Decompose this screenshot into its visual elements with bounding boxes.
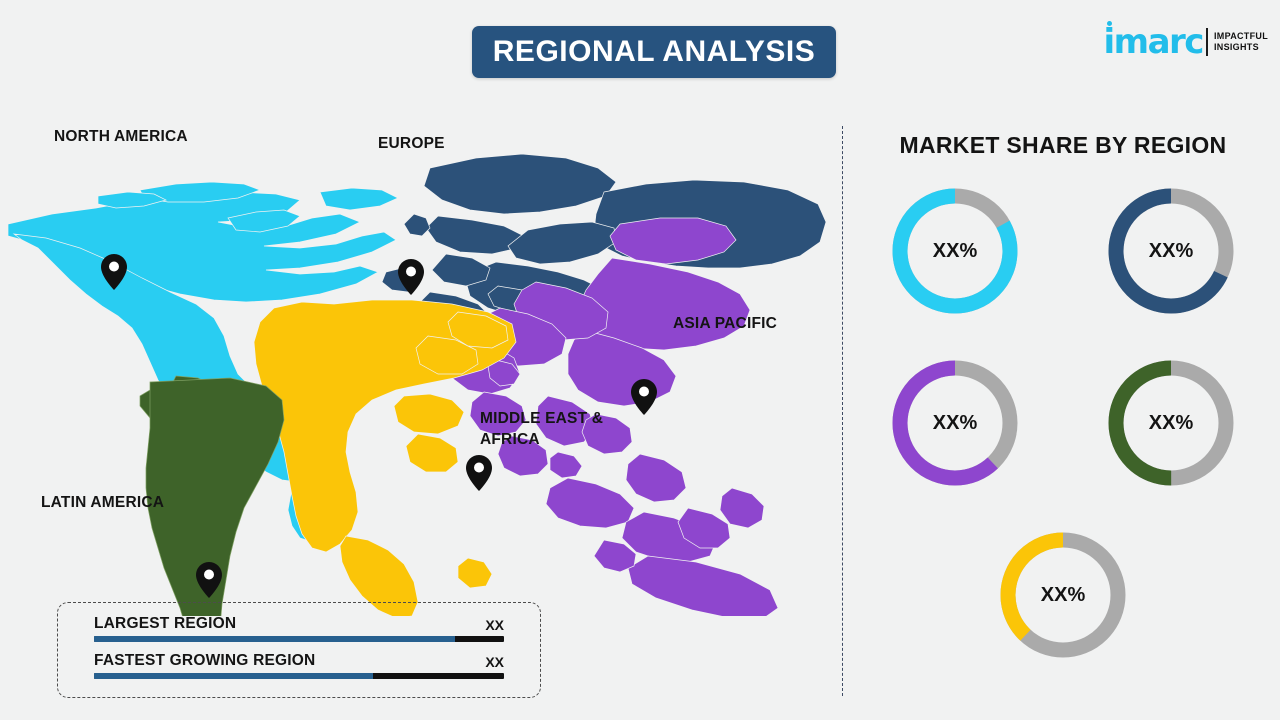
donut-row-2: XX% XX% [846, 353, 1280, 493]
donut-row-3: XX% [846, 525, 1280, 665]
map-pin-middle-east-africa-icon[interactable] [466, 455, 492, 491]
donut-chart-north-america[interactable]: XX% [885, 181, 1025, 321]
legend-row-head: LARGEST REGION XX [94, 615, 504, 633]
map-pin-europe-icon[interactable] [398, 259, 424, 295]
donut-value-europe: XX% [1101, 181, 1241, 321]
page-title-banner: REGIONAL ANALYSIS [472, 26, 836, 78]
map-pin-asia-pacific-icon[interactable] [631, 379, 657, 415]
infographic-root: REGIONAL ANALYSIS imarc IMPACTFUL INSIGH… [0, 0, 1280, 720]
legend-label-fastest-growing-region: FASTEST GROWING REGION [94, 652, 315, 670]
logo-divider [1206, 28, 1208, 56]
panel-divider [842, 126, 843, 696]
donut-row-1: XX% XX% [846, 181, 1280, 321]
logo-dot-icon [1107, 21, 1112, 26]
legend-value-fastest-growing-region: XX [485, 654, 504, 670]
logo-wordmark-text: imarc [1104, 22, 1203, 62]
map-label-europe: EUROPE [378, 133, 445, 154]
map-pin-north-america-icon[interactable] [101, 254, 127, 290]
logo-tagline: IMPACTFUL INSIGHTS [1214, 31, 1268, 53]
logo-wordmark: imarc [1104, 25, 1203, 59]
world-map-svg [0, 96, 830, 616]
region-summary-box: LARGEST REGION XX FASTEST GROWING REGION… [57, 602, 541, 698]
page-title: REGIONAL ANALYSIS [493, 35, 815, 69]
legend-row-largest-region: LARGEST REGION XX [94, 615, 504, 642]
legend-bar-fastest-growing-region [94, 673, 504, 679]
map-label-middle-east-africa: MIDDLE EAST & AFRICA [480, 408, 603, 450]
map-pin-latin-america-icon[interactable] [196, 562, 222, 598]
donut-value-middle-east-africa: XX% [993, 525, 1133, 665]
map-label-latin-america: LATIN AMERICA [41, 492, 164, 513]
market-share-heading: MARKET SHARE BY REGION [846, 132, 1280, 159]
map-label-asia-pacific: ASIA PACIFIC [673, 313, 777, 334]
legend-bar-fill [94, 673, 373, 679]
legend-label-largest-region: LARGEST REGION [94, 615, 236, 633]
donut-value-north-america: XX% [885, 181, 1025, 321]
world-map [0, 96, 830, 616]
market-share-panel: MARKET SHARE BY REGION XX% XX% XX% [846, 120, 1280, 700]
donut-grid: XX% XX% XX% XX% [846, 181, 1280, 665]
legend-value-largest-region: XX [485, 617, 504, 633]
donut-value-latin-america: XX% [1101, 353, 1241, 493]
logo-tagline-line2: INSIGHTS [1214, 42, 1268, 53]
imarc-logo: imarc IMPACTFUL INSIGHTS [1104, 22, 1268, 62]
donut-chart-asia-pacific[interactable]: XX% [885, 353, 1025, 493]
donut-chart-middle-east-africa[interactable]: XX% [993, 525, 1133, 665]
donut-chart-europe[interactable]: XX% [1101, 181, 1241, 321]
donut-value-asia-pacific: XX% [885, 353, 1025, 493]
legend-row-head: FASTEST GROWING REGION XX [94, 652, 504, 670]
map-label-north-america: NORTH AMERICA [54, 126, 188, 147]
legend-row-fastest-growing-region: FASTEST GROWING REGION XX [94, 652, 504, 679]
donut-chart-latin-america[interactable]: XX% [1101, 353, 1241, 493]
logo-tagline-line1: IMPACTFUL [1214, 31, 1268, 42]
legend-bar-fill [94, 636, 455, 642]
legend-bar-largest-region [94, 636, 504, 642]
